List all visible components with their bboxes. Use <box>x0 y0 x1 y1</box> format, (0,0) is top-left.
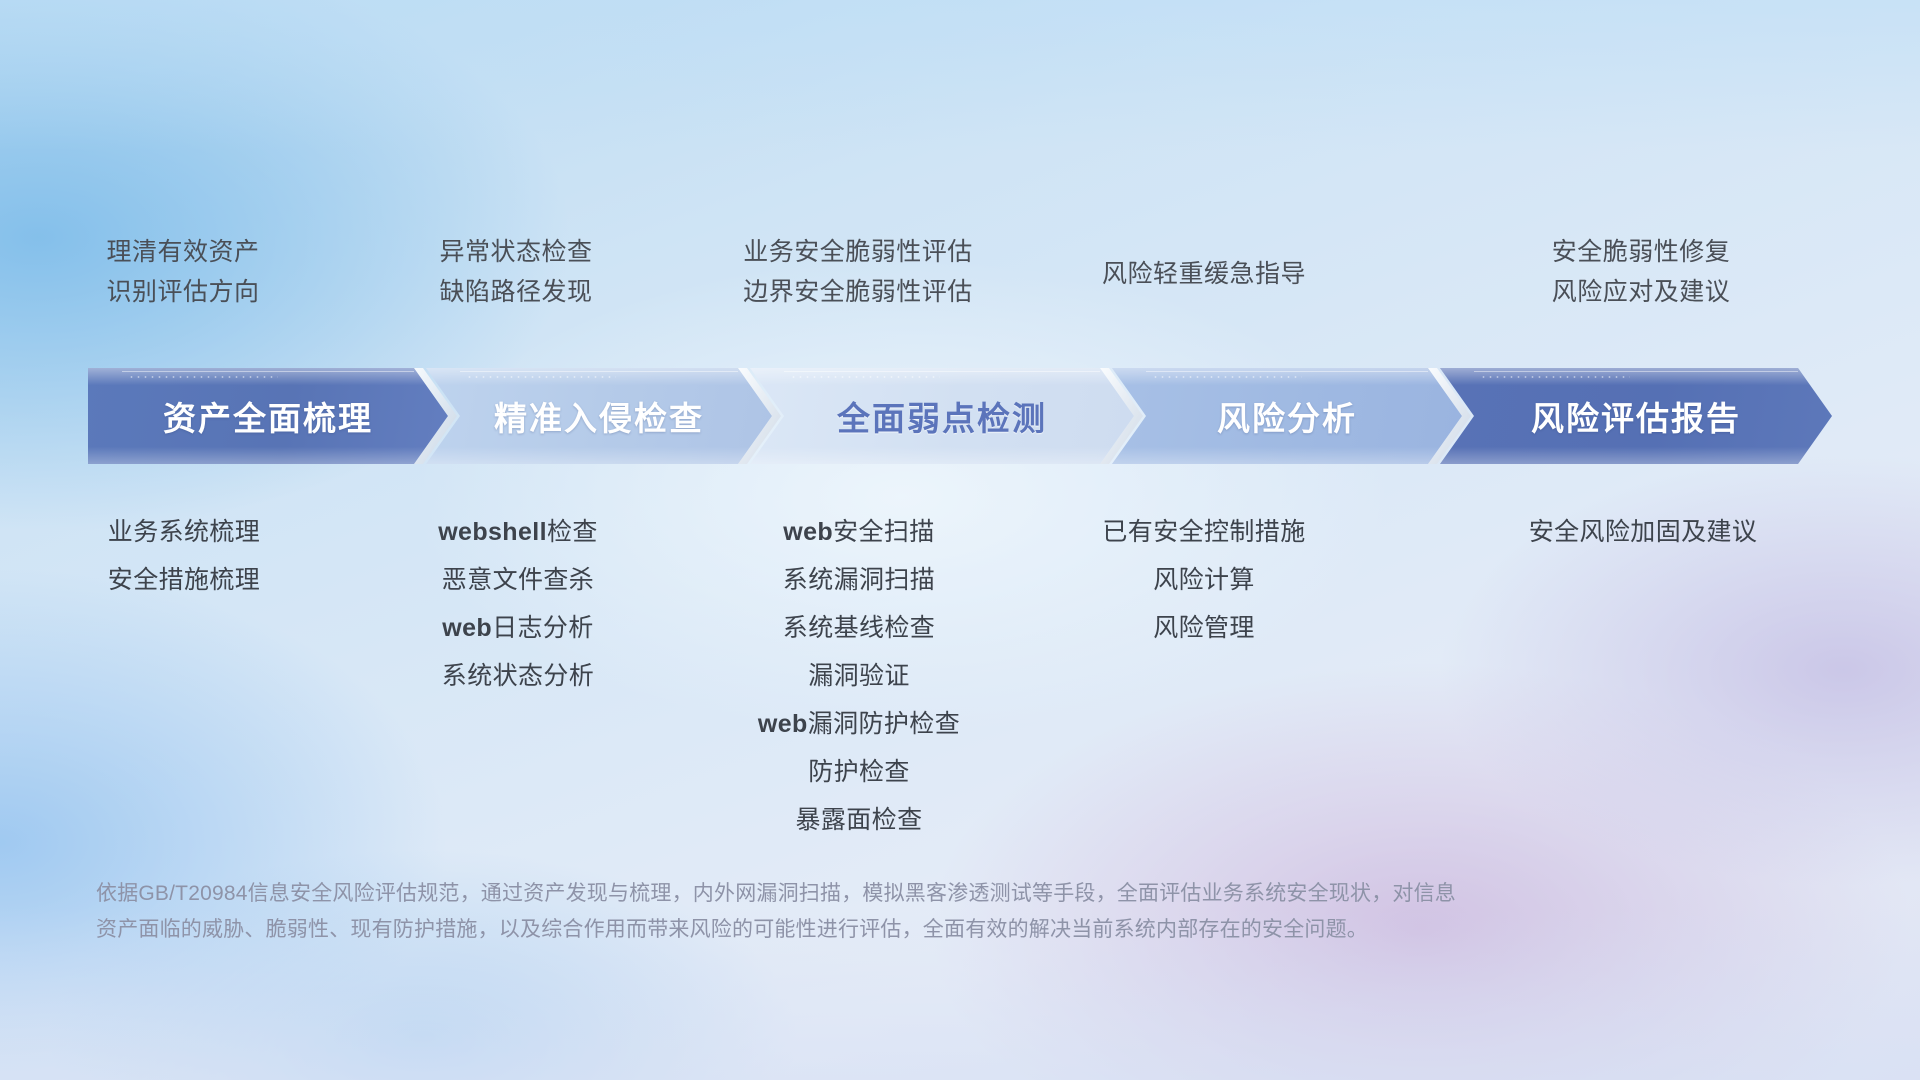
list-item-label: 漏洞验证 <box>808 662 910 690</box>
list-item-label: 业务系统梳理 <box>108 518 260 546</box>
arrow-glint <box>784 371 1100 372</box>
list-item: 安全措施梳理 <box>16 556 352 604</box>
stage-arrow-banner: 资产全面梳理 精准入侵检查 全面弱点检测 风险分析 <box>88 368 1832 464</box>
stage-arrow-1[interactable]: 资产全面梳理 <box>88 368 448 464</box>
top-label-group-4: 风险轻重缓急指导 <box>1026 232 1356 312</box>
list-item-label: 漏洞防护检查 <box>808 710 960 738</box>
list-item-label: 暴露面检查 <box>795 806 922 834</box>
footer-line: 资产面临的威胁、脆弱性、现有防护措施，以及综合作用而带来风险的可能性进行评估，全… <box>96 912 1856 948</box>
stage-arrow-label: 资产全面梳理 <box>163 392 373 440</box>
list-item: 系统漏洞扫描 <box>692 556 1026 604</box>
bottom-list-group-2: webshell检查 恶意文件查杀 web日志分析 系统状态分析 <box>352 508 670 844</box>
list-item: 恶意文件查杀 <box>366 556 670 604</box>
top-label: 缺陷路径发现 <box>362 272 670 312</box>
arrow-dot-texture <box>466 374 616 380</box>
top-label: 风险轻重缓急指导 <box>1052 254 1356 294</box>
list-item: 系统状态分析 <box>366 652 670 700</box>
list-item-label: 系统漏洞扫描 <box>783 566 935 594</box>
list-item: 风险计算 <box>1052 556 1356 604</box>
stage-arrow-label: 风险分析 <box>1217 392 1357 440</box>
list-item: web安全扫描 <box>692 508 1026 556</box>
stage-arrow-5[interactable]: 风险评估报告 <box>1440 368 1832 464</box>
list-item-prefix: web <box>758 710 808 738</box>
list-item: 漏洞验证 <box>692 652 1026 700</box>
arrow-dot-texture <box>790 374 940 380</box>
top-label: 风险应对及建议 <box>1362 272 1920 312</box>
stage-arrow-label: 精准入侵检查 <box>494 392 704 440</box>
stage-arrow-label: 全面弱点检测 <box>837 392 1047 440</box>
top-label: 识别评估方向 <box>14 272 352 312</box>
stage-arrow-4[interactable]: 风险分析 <box>1112 368 1462 464</box>
top-label: 理清有效资产 <box>14 232 352 272</box>
list-item-label: 恶意文件查杀 <box>442 566 594 594</box>
list-item: 防护检查 <box>692 748 1026 796</box>
arrow-dot-texture <box>128 374 278 380</box>
process-diagram: 理清有效资产 识别评估方向 异常状态检查 缺陷路径发现 业务安全脆弱性评估 边界… <box>0 0 1920 1080</box>
arrow-dot-texture <box>1152 374 1302 380</box>
bottom-list-group-4: 已有安全控制措施 风险计算 风险管理 <box>1026 508 1356 844</box>
list-item: 已有安全控制措施 <box>1052 508 1356 556</box>
list-item-prefix: web <box>783 518 833 546</box>
list-item-label: 检查 <box>547 518 598 546</box>
list-item-label: 系统基线检查 <box>783 614 935 642</box>
top-label: 异常状态检查 <box>362 232 670 272</box>
stage-arrow-3[interactable]: 全面弱点检测 <box>750 368 1134 464</box>
top-label-group-1: 理清有效资产 识别评估方向 <box>0 232 352 312</box>
list-item-label: 安全扫描 <box>833 518 935 546</box>
stage-arrow-label: 风险评估报告 <box>1531 392 1741 440</box>
list-item-prefix: webshell <box>438 518 547 546</box>
arrow-glint <box>1146 371 1428 372</box>
footer-description: 依据GB/T20984信息安全风险评估规范，通过资产发现与梳理，内外网漏洞扫描，… <box>96 876 1856 948</box>
bottom-list-group-3: web安全扫描 系统漏洞扫描 系统基线检查 漏洞验证 web漏洞防护检查 防护检… <box>670 508 1026 844</box>
bottom-list-group-1: 业务系统梳理 安全措施梳理 <box>0 508 352 844</box>
bottom-list-group-5: 安全风险加固及建议 <box>1356 508 1920 844</box>
top-label-row: 理清有效资产 识别评估方向 异常状态检查 缺陷路径发现 业务安全脆弱性评估 边界… <box>0 232 1920 312</box>
arrow-glint <box>1474 371 1798 372</box>
top-label-group-3: 业务安全脆弱性评估 边界安全脆弱性评估 <box>670 232 1026 312</box>
arrow-glint <box>460 371 738 372</box>
list-item-label: 系统状态分析 <box>442 662 594 690</box>
list-item-label: 安全风险加固及建议 <box>1529 518 1758 546</box>
list-item-label: 安全措施梳理 <box>108 566 260 594</box>
top-label: 安全脆弱性修复 <box>1362 232 1920 272</box>
list-item-label: 防护检查 <box>808 758 910 786</box>
top-label-group-5: 安全脆弱性修复 风险应对及建议 <box>1356 232 1920 312</box>
stage-arrow-2[interactable]: 精准入侵检查 <box>426 368 772 464</box>
footer-line: 依据GB/T20984信息安全风险评估规范，通过资产发现与梳理，内外网漏洞扫描，… <box>96 876 1856 912</box>
top-label: 边界安全脆弱性评估 <box>690 272 1026 312</box>
list-item-label: 风险管理 <box>1153 614 1255 642</box>
arrow-glint <box>122 371 414 372</box>
list-item: 风险管理 <box>1052 604 1356 652</box>
list-item: webshell检查 <box>366 508 670 556</box>
list-item: web漏洞防护检查 <box>692 700 1026 748</box>
list-item: 安全风险加固及建议 <box>1366 508 1920 556</box>
top-label-group-2: 异常状态检查 缺陷路径发现 <box>352 232 670 312</box>
list-item: 业务系统梳理 <box>16 508 352 556</box>
list-item-label: 日志分析 <box>492 614 594 642</box>
list-item: 系统基线检查 <box>692 604 1026 652</box>
list-item: web日志分析 <box>366 604 670 652</box>
list-item: 暴露面检查 <box>692 796 1026 844</box>
arrow-dot-texture <box>1480 374 1630 380</box>
list-item-label: 风险计算 <box>1153 566 1255 594</box>
bottom-list-row: 业务系统梳理 安全措施梳理 webshell检查 恶意文件查杀 web日志分析 … <box>0 508 1920 844</box>
top-label: 业务安全脆弱性评估 <box>690 232 1026 272</box>
list-item-label: 已有安全控制措施 <box>1102 518 1305 546</box>
list-item-prefix: web <box>442 614 492 642</box>
